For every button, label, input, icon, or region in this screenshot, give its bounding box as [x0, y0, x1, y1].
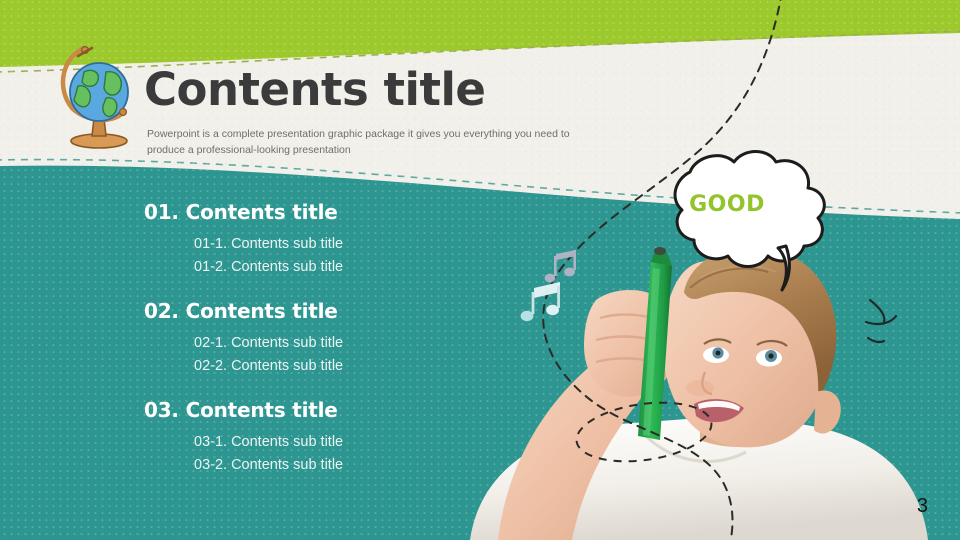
contents-sub-item[interactable]: 02-1. Contents sub title	[194, 332, 504, 355]
contents-heading[interactable]: 03. Contents title	[144, 398, 504, 422]
contents-heading[interactable]: 02. Contents title	[144, 299, 504, 323]
bubble-label: GOOD	[672, 192, 782, 217]
contents-group-03: 03. Contents title 03-1. Contents sub ti…	[144, 398, 504, 477]
page-number: 3	[917, 495, 928, 518]
contents-sub-item[interactable]: 01-1. Contents sub title	[194, 233, 504, 256]
contents-list: 01. Contents title 01-1. Contents sub ti…	[144, 200, 504, 497]
contents-group-02: 02. Contents title 02-1. Contents sub ti…	[144, 299, 504, 378]
contents-sub-item[interactable]: 02-2. Contents sub title	[194, 355, 504, 378]
page-subtitle: Powerpoint is a complete presentation gr…	[147, 126, 577, 158]
page-title: Contents title	[144, 63, 485, 116]
contents-sub-item[interactable]: 03-1. Contents sub title	[194, 431, 504, 454]
contents-sub-item[interactable]: 03-2. Contents sub title	[194, 454, 504, 477]
contents-heading[interactable]: 01. Contents title	[144, 200, 504, 224]
slide-canvas: GOOD	[0, 0, 960, 540]
contents-sub-item[interactable]: 01-2. Contents sub title	[194, 256, 504, 279]
contents-group-01: 01. Contents title 01-1. Contents sub ti…	[144, 200, 504, 279]
